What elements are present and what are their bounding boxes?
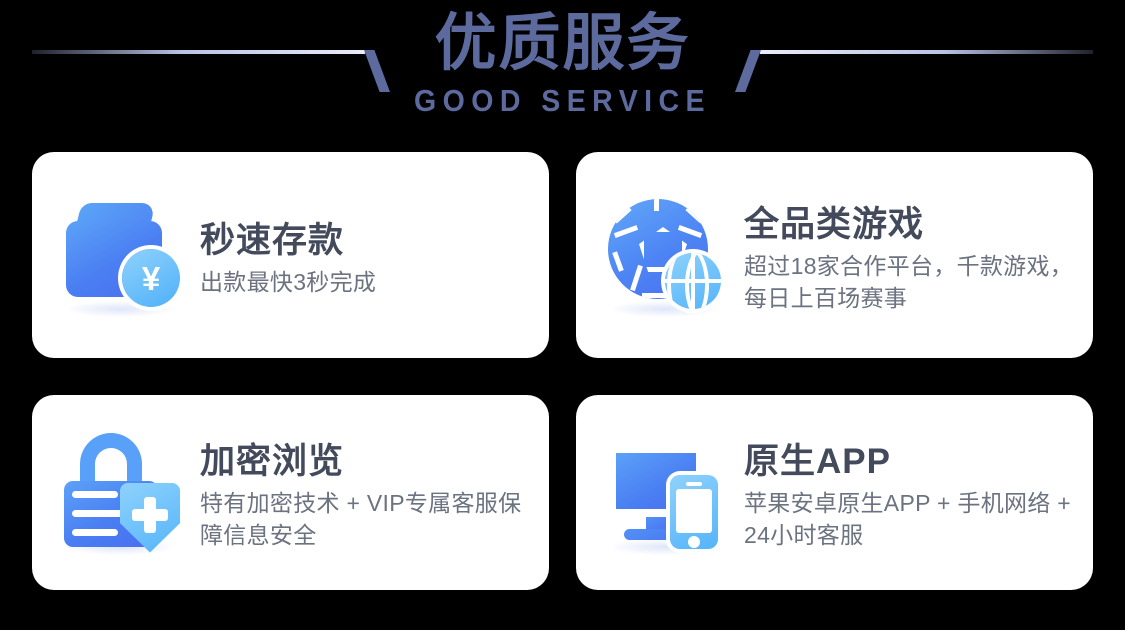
basketball-curve [685,253,721,309]
padlock-icon [58,429,186,557]
feature-card-grid: ¥ 秒速存款 出款最快3秒完成 [32,152,1093,590]
card-subtitle: 苹果安卓原生APP + 手机网络 + 24小时客服 [744,488,1075,551]
yuan-coin-icon: ¥ [122,249,180,307]
page-header: 优质服务 GOOD SERVICE [0,0,1125,150]
padlock-slot [72,491,118,498]
feature-card-deposit[interactable]: ¥ 秒速存款 出款最快3秒完成 [32,152,549,358]
soccer-seam [614,225,638,238]
card-subtitle: 特有加密技术 + VIP专属客服保障信息安全 [200,488,531,551]
card-text-block: 加密浏览 特有加密技术 + VIP专属客服保障信息安全 [200,433,531,551]
card-subtitle: 出款最快3秒完成 [200,267,531,299]
feature-card-games[interactable]: 全品类游戏 超过18家合作平台，千款游戏，每日上百场赛事 [576,152,1093,358]
wallet-icon: ¥ [58,191,186,319]
card-title: 全品类游戏 [744,196,1075,247]
card-title: 原生APP [744,433,1075,484]
soccer-seam [678,225,702,238]
padlock-slot [72,529,118,536]
card-subtitle: 超过18家合作平台，千款游戏，每日上百场赛事 [744,251,1075,314]
page-title: 优质服务 [0,0,1125,79]
feature-card-encryption[interactable]: 加密浏览 特有加密技术 + VIP专属客服保障信息安全 [32,395,549,590]
soccer-seam [612,251,624,272]
page-subtitle: GOOD SERVICE [45,79,1080,119]
card-title: 加密浏览 [200,433,531,484]
soccer-ball-icon [602,191,730,319]
card-title: 秒速存款 [200,212,531,263]
monitor-phone-icon [602,429,730,557]
soccer-seam [685,206,703,223]
smartphone-icon [670,475,718,549]
soccer-seam [654,199,659,211]
soccer-seam [613,206,631,223]
basketball-icon [665,253,721,309]
header-title-group: 优质服务 GOOD SERVICE [0,0,1125,119]
soccer-seam [630,265,643,291]
card-text-block: 全品类游戏 超过18家合作平台，千款游戏，每日上百场赛事 [744,196,1075,314]
phone-speaker [686,482,702,486]
card-text-block: 秒速存款 出款最快3秒完成 [200,212,531,299]
feature-card-native-app[interactable]: 原生APP 苹果安卓原生APP + 手机网络 + 24小时客服 [576,395,1093,590]
card-text-block: 原生APP 苹果安卓原生APP + 手机网络 + 24小时客服 [744,433,1075,551]
phone-screen [676,489,712,533]
phone-home-button [688,536,700,548]
